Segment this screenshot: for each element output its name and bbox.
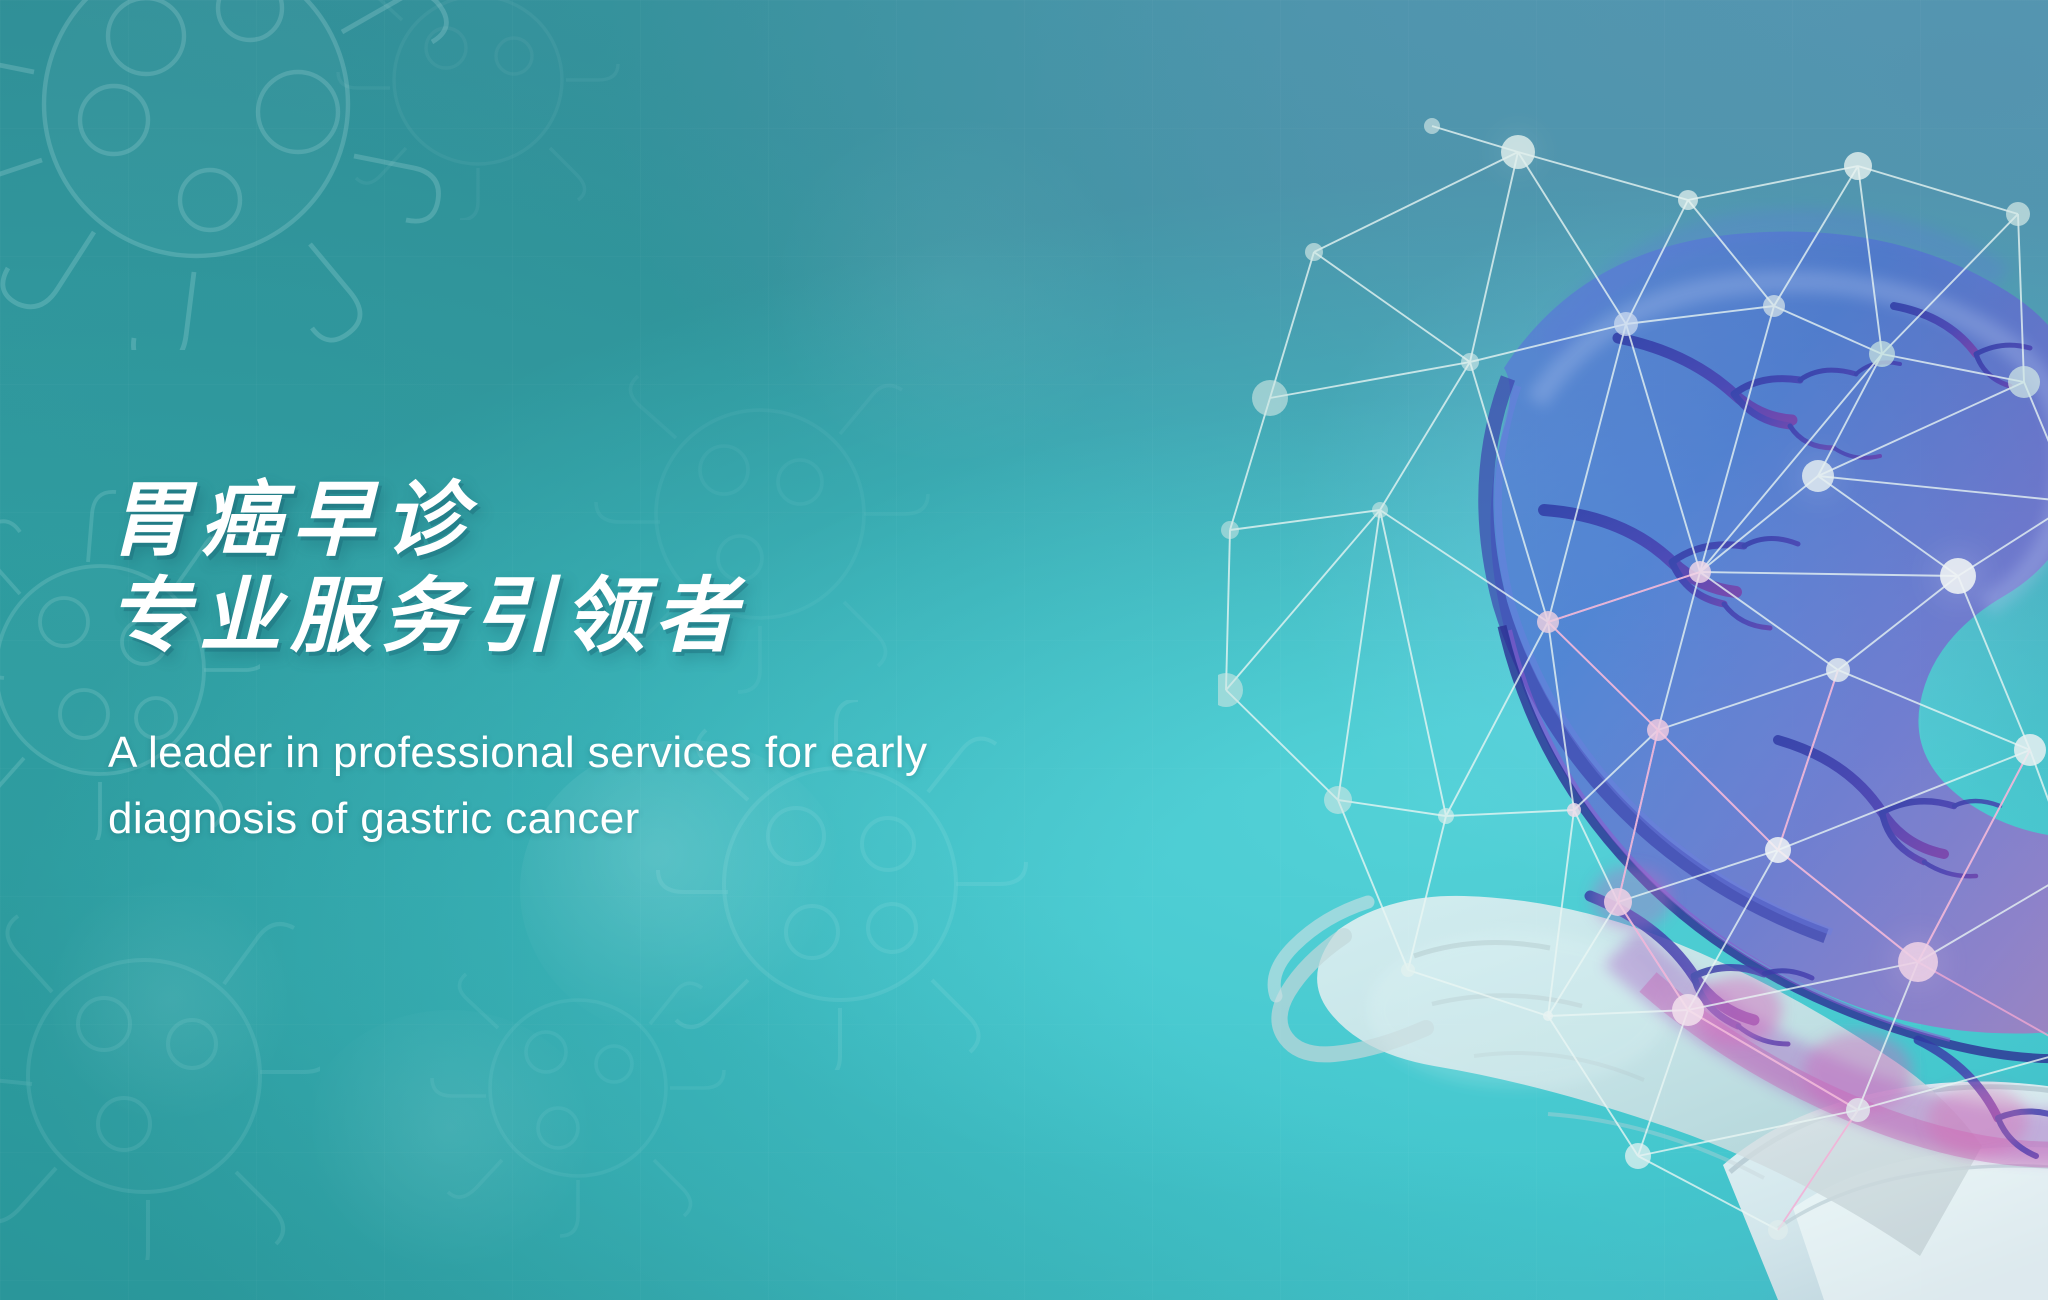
banner-root: 胃癌早诊 专业服务引领者 A leader in professional se… xyxy=(0,0,2048,1300)
page-subtitle: A leader in professional services for ea… xyxy=(108,720,1128,852)
page-title: 胃癌早诊 专业服务引领者 xyxy=(108,473,1168,665)
headline-line-2: 专业服务引领者 xyxy=(108,569,1168,665)
copy-block: 胃癌早诊 专业服务引领者 A leader in professional se… xyxy=(108,418,1168,896)
headline-line-1: 胃癌早诊 xyxy=(108,473,1168,569)
